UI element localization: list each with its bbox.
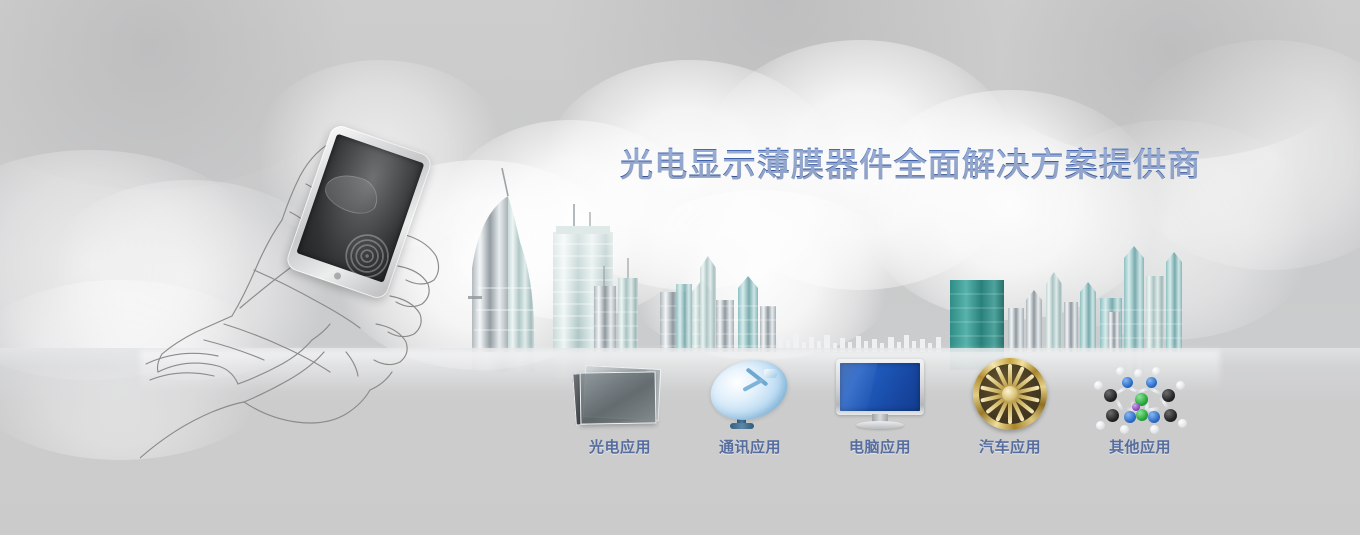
teal-tower xyxy=(950,280,1004,352)
app-visual xyxy=(1085,358,1195,430)
main-tower xyxy=(553,204,613,352)
phone-screen xyxy=(296,134,424,283)
app-visual xyxy=(695,358,805,430)
lcd-monitor-icon xyxy=(834,359,926,429)
alloy-wheel-icon xyxy=(973,358,1047,430)
twin-towers xyxy=(594,258,638,352)
glass-film-panels-icon xyxy=(572,363,668,425)
application-label: 其他应用 xyxy=(1109,436,1171,457)
smartphone xyxy=(284,123,434,301)
sail-tower xyxy=(468,168,536,352)
application-item-automotive[interactable]: 汽车应用 xyxy=(950,352,1070,457)
hero-banner: 光电显示薄膜器件全面解决方案提供商 光电应用 xyxy=(0,0,1360,535)
satellite-dish-icon xyxy=(704,359,796,429)
application-label: 电脑应用 xyxy=(849,436,911,457)
molecule-model-icon xyxy=(1092,359,1188,429)
screen-swirl-graphic xyxy=(320,168,383,220)
application-item-other[interactable]: 其他应用 xyxy=(1080,352,1200,457)
application-list: 光电应用 通讯应用 xyxy=(560,352,1200,457)
app-visual xyxy=(825,358,935,430)
touch-ripple-icon xyxy=(339,228,395,283)
application-label: 光电应用 xyxy=(589,436,651,457)
slim-towers xyxy=(676,256,716,352)
application-label: 通讯应用 xyxy=(719,436,781,457)
application-item-optoelectronic[interactable]: 光电应用 xyxy=(560,352,680,457)
right-tall-towers xyxy=(1100,246,1182,352)
application-item-communications[interactable]: 通讯应用 xyxy=(690,352,810,457)
page-title: 光电显示薄膜器件全面解决方案提供商 xyxy=(620,138,1201,186)
center-towers xyxy=(660,276,776,352)
home-button-icon xyxy=(333,271,342,280)
application-label: 汽车应用 xyxy=(979,436,1041,457)
app-visual xyxy=(565,358,675,430)
app-visual xyxy=(955,358,1065,430)
phone-body xyxy=(284,123,434,301)
application-item-computer[interactable]: 电脑应用 xyxy=(820,352,940,457)
right-towers xyxy=(1008,272,1096,352)
